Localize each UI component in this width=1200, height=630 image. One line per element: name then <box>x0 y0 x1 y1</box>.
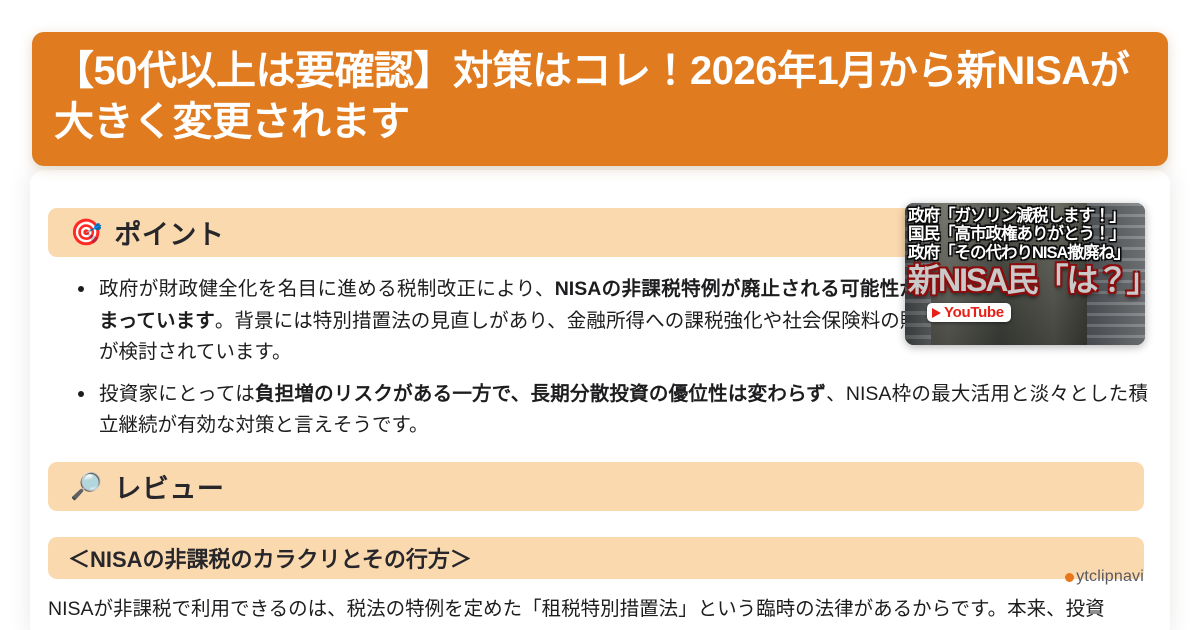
bullet-text-1: 投資家にとっては負担増のリスクがある一方で、長期分散投資の優位性は変わらず、NI… <box>99 383 1148 437</box>
thumbnail-line: 国民「高市政権ありがとう！」 <box>908 225 1142 243</box>
youtube-badge[interactable]: YouTube <box>927 303 1011 322</box>
watermark: ytclipnavi <box>1065 568 1144 586</box>
video-thumbnail[interactable]: 政府「ガソリン減税します！」 国民「高市政権ありがとう！」 政府「その代わりNI… <box>905 203 1145 345</box>
watermark-label: ytclipnavi <box>1076 568 1144 586</box>
magnifying-glass-icon: 🔎 <box>70 474 102 500</box>
play-triangle-icon <box>932 308 941 318</box>
thumbnail-overlay-text: 政府「ガソリン減税します！」 国民「高市政権ありがとう！」 政府「その代わりNI… <box>905 207 1145 296</box>
thumbnail-line: 政府「その代わりNISA撤廃ね」 <box>908 244 1142 262</box>
section-subheading: ＜NISAの非課税のカラクリとその行方＞ <box>48 537 1144 579</box>
page-title: 【50代以上は要確認】対策はコレ！2026年1月から新NISAが大きく変更されま… <box>54 46 1146 148</box>
section-subheading-label: ＜NISAの非課税のカラクリとその行方＞ <box>68 542 472 574</box>
body-paragraph: NISAが非課税で利用できるのは、税法の特例を定めた「租税特別措置法」という臨時… <box>48 594 1160 626</box>
bullet-text-0: 政府が財政健全化を名目に進める税制改正により、NISAの非課税特例が廃止される可… <box>99 278 939 363</box>
thumbnail-headline: 新NISA民「は？」 <box>908 264 1142 296</box>
section-header-point-label: ポイント <box>114 213 224 252</box>
youtube-badge-label: YouTube <box>944 305 1004 320</box>
page-title-banner: 【50代以上は要確認】対策はコレ！2026年1月から新NISAが大きく変更されま… <box>32 32 1168 166</box>
section-header-review: 🔎 レビュー <box>48 462 1144 511</box>
list-item: 投資家にとっては負担増のリスクがある一方で、長期分散投資の優位性は変わらず、NI… <box>70 379 1148 442</box>
dartboard-icon: 🎯 <box>70 220 102 246</box>
page-root: 🎯 ポイント 政府が財政健全化を名目に進める税制改正により、NISAの非課税特例… <box>0 0 1200 630</box>
watermark-dot-icon <box>1065 573 1074 582</box>
section-header-review-label: レビュー <box>114 467 224 506</box>
list-item: 政府が財政健全化を名目に進める税制改正により、NISAの非課税特例が廃止される可… <box>70 274 939 369</box>
thumbnail-line: 政府「ガソリン減税します！」 <box>908 207 1142 225</box>
